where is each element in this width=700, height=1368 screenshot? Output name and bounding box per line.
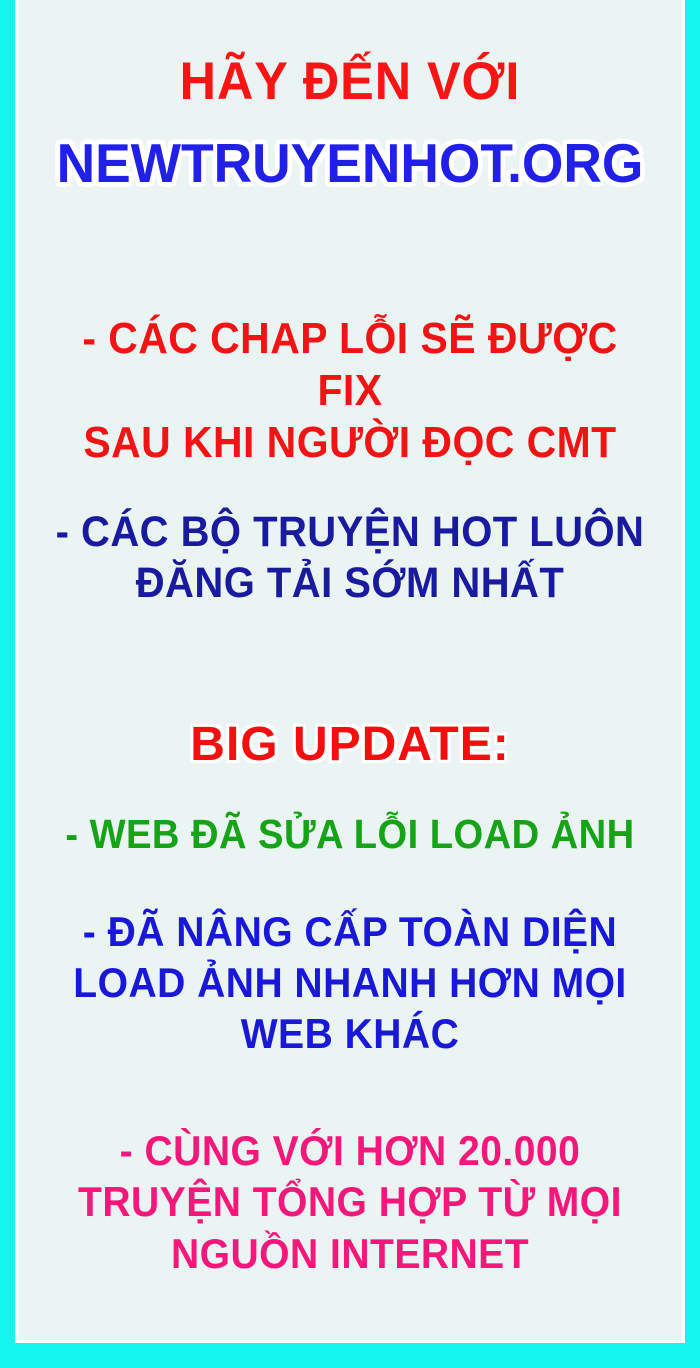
announcement-banner: HÃY ĐẾN VỚI NEWTRUYENHOT.ORG - CÁC CHAP … bbox=[0, 0, 700, 1368]
content-panel: HÃY ĐẾN VỚI NEWTRUYENHOT.ORG - CÁC CHAP … bbox=[18, 0, 682, 1340]
site-domain-text[interactable]: NEWTRUYENHOT.ORG bbox=[28, 133, 672, 195]
notice-hot-stories: - CÁC BỘ TRUYỆN HOT LUÔN ĐĂNG TẢI SỚM NH… bbox=[41, 507, 659, 610]
update-story-count: - CÙNG VỚI HƠN 20.000 TRUYỆN TỔNG HỢP TỪ… bbox=[41, 1125, 659, 1279]
headline-text: HÃY ĐẾN VỚI bbox=[35, 52, 666, 111]
notice-fix-chapters: - CÁC CHAP LỖI SẼ ĐƯỢC FIX SAU KHI NGƯỜI… bbox=[41, 313, 659, 469]
update-image-load-fixed: - WEB ĐÃ SỬA LỖI LOAD ẢNH bbox=[41, 812, 659, 858]
big-update-heading: BIG UPDATE: bbox=[18, 718, 682, 772]
content-stack: HÃY ĐẾN VỚI NEWTRUYENHOT.ORG - CÁC CHAP … bbox=[18, 0, 682, 1340]
update-full-upgrade: - ĐÃ NÂNG CẤP TOÀN DIỆN LOAD ẢNH NHANH H… bbox=[41, 906, 659, 1060]
